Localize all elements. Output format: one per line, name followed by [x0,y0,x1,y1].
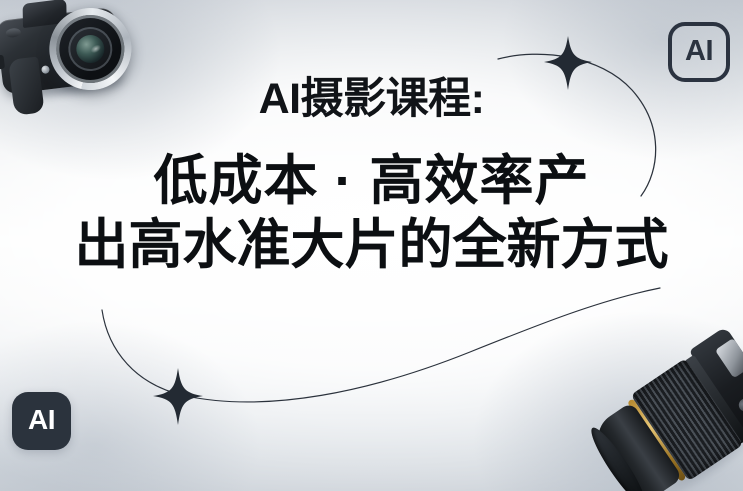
headline-line-2: 出高水准大片的全新方式 [0,214,743,278]
poster-eyebrow-title: AI摄影课程: [0,78,743,122]
ai-badge-bottom-left-label: AI [28,406,55,434]
sparkle-icon-bottom [153,368,203,425]
arc-bottom-curved-line [102,288,660,402]
camera-lens-flare [89,43,102,55]
poster-headline: 低成本 · 高效率产 出高水准大片的全新方式 [0,150,743,277]
ai-badge-top-right: AI [668,22,730,82]
ai-badge-bottom-left: AI [12,392,71,450]
poster-text-block: AI摄影课程: 低成本 · 高效率产 出高水准大片的全新方式 [0,78,743,277]
headline-line-1: 低成本 · 高效率产 [0,150,743,214]
ai-badge-top-right-label: AI [685,37,713,66]
camera-lens-barrel [52,11,128,87]
camera-lens-inner-ring [66,25,115,74]
promo-poster: AI摄影课程: 低成本 · 高效率产 出高水准大片的全新方式 AI AI [0,0,743,491]
camera-front-dot [41,65,50,74]
camera-lens-glass [75,33,106,64]
